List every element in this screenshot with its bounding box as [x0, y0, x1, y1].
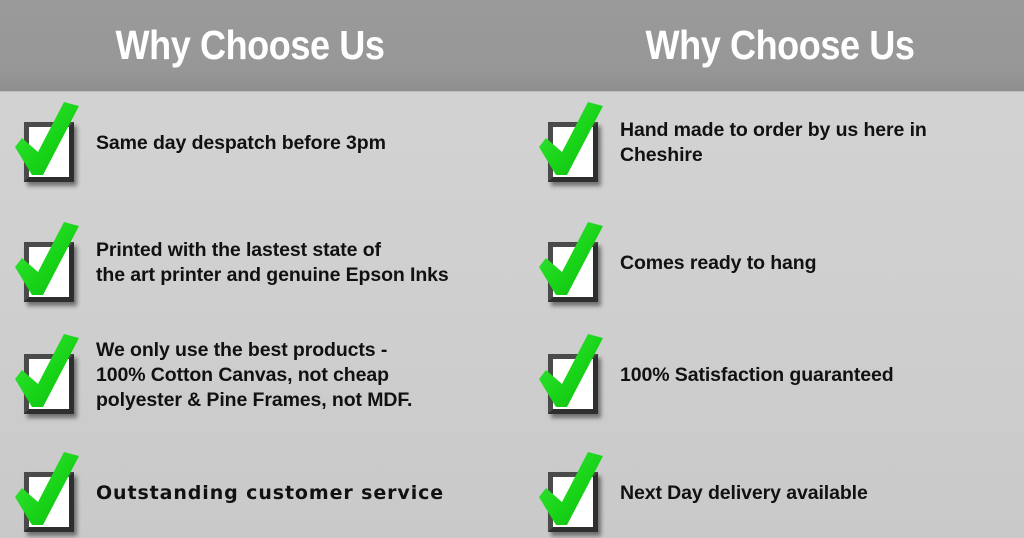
right-feature-column: Hand made to order by us here in Cheshir… — [512, 92, 1024, 538]
header-band: Why Choose Us Why Choose Us — [0, 0, 1024, 92]
checkbox-frame — [548, 242, 598, 302]
list-item: 100% Satisfaction guaranteed — [532, 332, 894, 418]
list-item-label: Same day despatch before 3pm — [96, 131, 386, 156]
checkbox-frame — [24, 122, 74, 182]
list-item: Printed with the lastest state of the ar… — [8, 220, 449, 306]
left-feature-column: Same day despatch before 3pm Printed wit… — [0, 92, 512, 538]
checkbox-frame — [24, 472, 74, 532]
green-check-box-icon — [8, 332, 86, 418]
checkbox-frame — [24, 242, 74, 302]
green-check-box-icon — [532, 220, 610, 306]
list-item: We only use the best products - 100% Cot… — [8, 332, 412, 418]
list-item-label: Comes ready to hang — [620, 251, 816, 276]
left-column-heading: Why Choose Us — [83, 22, 417, 68]
list-item: Next Day delivery available — [532, 450, 868, 536]
green-check-box-icon — [532, 100, 610, 186]
green-check-box-icon — [8, 450, 86, 536]
green-check-box-icon — [532, 332, 610, 418]
list-item: Same day despatch before 3pm — [8, 100, 386, 186]
checkbox-frame — [548, 354, 598, 414]
checkbox-frame — [548, 122, 598, 182]
list-item: Hand made to order by us here in Cheshir… — [532, 100, 927, 186]
list-item-label: Hand made to order by us here in Cheshir… — [620, 118, 927, 168]
green-check-box-icon — [8, 220, 86, 306]
green-check-box-icon — [8, 100, 86, 186]
list-item-label: Printed with the lastest state of the ar… — [96, 238, 449, 288]
right-column-heading: Why Choose Us — [613, 22, 947, 68]
why-choose-us-banner: Why Choose Us Why Choose Us S — [0, 0, 1024, 538]
list-item-label: We only use the best products - 100% Cot… — [96, 338, 412, 413]
green-check-box-icon — [532, 450, 610, 536]
checkbox-frame — [548, 472, 598, 532]
list-item-label: Outstanding customer service — [96, 481, 444, 506]
list-item: Outstanding customer service — [8, 450, 444, 536]
checkbox-frame — [24, 354, 74, 414]
list-item: Comes ready to hang — [532, 220, 816, 306]
list-item-label: 100% Satisfaction guaranteed — [620, 363, 894, 388]
list-item-label: Next Day delivery available — [620, 481, 868, 506]
